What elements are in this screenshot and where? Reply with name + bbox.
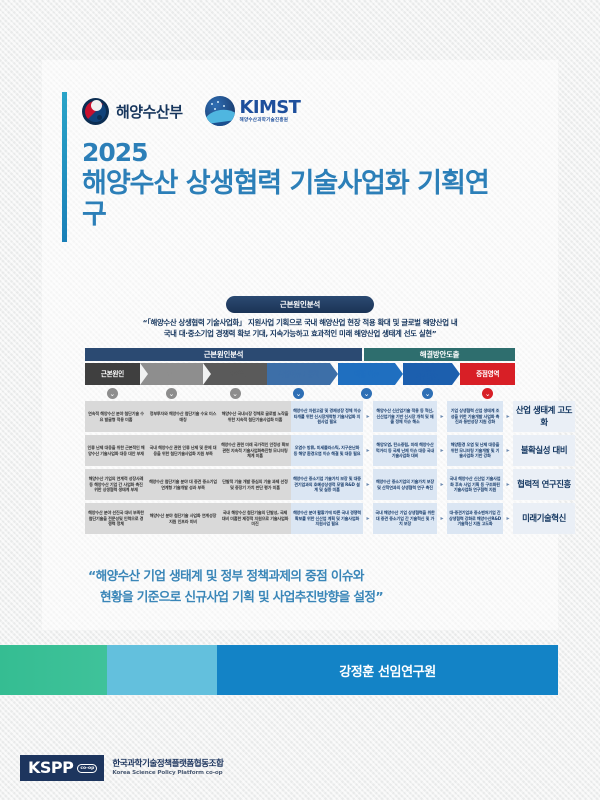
kimst-logo: KIMST 해양수산과학기술진흥원: [205, 96, 301, 126]
diagram-grid: 연속적 해양수산 분야 첨단기술 수요 발굴형 적용 미흡정부투자와 해양수산 …: [85, 401, 515, 534]
quote-line1: “해양수산 기업 생태계 및 정부 정책과제의 중점 이슈와: [88, 568, 364, 583]
taeguk-icon: [82, 98, 109, 125]
cell-secondary-cause: 국내 해양수산 관련 인류 난제 및 문제 대응을 위한 첨단기술사업화 지원 …: [147, 435, 219, 466]
diagram-row: 인류 난제 대응을 위한 근본적인 해양수산 기술사업화 대응 대안 부재국내 …: [85, 435, 515, 466]
cell-root-cause: 인류 난제 대응을 위한 근본적인 해양수산 기술사업화 대응 대안 부재: [85, 435, 147, 466]
arrow-right-icon: ▸: [437, 503, 447, 534]
chevron-down-icon: ⌄: [293, 388, 304, 399]
cell-business-issue: 해양수산 자원고갈 및 경제성장 정체 이슈 타개를 위한 신시장개척형 기술사…: [291, 401, 363, 432]
author-band-blue: 강정훈 선임연구원: [217, 645, 558, 695]
root-cause-diagram: 근본원인분석 “「해양수산 상생협력 기술사업화」 지원사업 기획으로 국내 해…: [85, 296, 515, 537]
kimst-logo-sub: 해양수산과학기술진흥원: [240, 119, 301, 124]
diagram-lead-line1: “「해양수산 상생협력 기술사업화」 지원사업 기획으로 국내 해양산업 현장 …: [89, 317, 511, 328]
summary-quote: “해양수산 기업 생태계 및 정부 정책과제의 중점 이슈와 현황을 기준으로 …: [88, 566, 508, 608]
column-header-business-issue: 사업이슈 / 문제: [267, 363, 331, 385]
chevron-down-icon: ⌄: [166, 388, 177, 399]
title-line1: 해양수산 상생협력 기술사업화: [82, 168, 409, 199]
kimst-logo-name: KIMST: [240, 99, 301, 117]
cell-primary-cause: 국내 해양수산 첨단기술의 단발성, 국제 대비 미흡한 제정적 지원으로 기술…: [219, 503, 291, 534]
arrow-right-icon: ▸: [363, 503, 373, 534]
cell-secondary-cause: 정부투자와 해양수산 첨단기술 수요 미스매칭: [147, 401, 219, 432]
cell-focus-area: 불확실성 대비: [513, 435, 575, 466]
diagram-pill-label: 근본원인분석: [226, 296, 374, 313]
title-accent-bar: [62, 92, 67, 242]
column-header-secondary-cause: 2차원인: [140, 363, 204, 385]
arrow-right-icon: ▸: [503, 503, 513, 534]
author-band-teal: [0, 645, 107, 695]
cell-primary-cause: 해양수산 국내시장 정체로 글로벌 노작을 위한 지속적 첨단기술사업화 미흡: [219, 401, 291, 432]
arrow-right-icon: ▸: [363, 435, 373, 466]
arrow-right-icon: ▸: [437, 401, 447, 432]
column-header-root-cause: 근본원인: [85, 363, 140, 385]
band-solution-derivation: 해결방안도출: [364, 348, 515, 361]
column-header-solve-issue: 해결 이슈: [338, 363, 394, 385]
cell-rnd-solution: 기업 상생협력 산업 생태계 조성을 위한 기술개발 사업화 촉진과 동반성장 …: [447, 401, 503, 432]
cell-rnd-solution: 국내 해양수산 신산업 기술사업화 후속 사업 기획 등 구조화된 기술사업화 …: [447, 469, 503, 500]
kspp-logo: KSPP co-op: [20, 755, 104, 781]
cell-business-issue: 오염수 방류, 미세플라스틱, 지구온난화 등 해양 환경오염 이슈 해결 및 …: [291, 435, 363, 466]
cell-solve-issue: 해양수산 신산업기술 적용 등 혁신, 신산업기술 기반 신시장 개척 및 매출…: [373, 401, 437, 432]
cell-focus-area: 미래기술혁신: [513, 503, 575, 534]
column-header-rnd-solution: R&D 해결방안: [403, 363, 452, 385]
cell-solve-issue: 해양오염, 탄소중립, 미래 해양수산 먹거리 등 국제 난제 이슈 대응 국내…: [373, 435, 437, 466]
ministry-logo: 해양수산부: [82, 98, 183, 125]
cell-secondary-cause: 해양수산 첨단기술 분야 대 중견 중소기업 연계형 기술개발 성과 부족: [147, 469, 219, 500]
footer-org-en: Korea Science Policy Platform co-op: [112, 770, 223, 776]
page-title: 2025 해양수산 상생협력 기술사업화 기획연구: [82, 138, 512, 231]
footer-org-ko: 한국과학기술정책플랫폼협동조합: [112, 760, 223, 770]
footer-org: 한국과학기술정책플랫폼협동조합 Korea Science Policy Pla…: [112, 760, 223, 776]
arrow-right-icon: ▸: [363, 469, 373, 500]
chevron-down-icon: ⌄: [422, 388, 433, 399]
diagram-band-row: 근본원인분석 해결방안도출: [85, 348, 515, 361]
chevron-down-icon: ⌄: [361, 388, 372, 399]
cell-root-cause: 해양수산 분야 선진국 대비 부족한 첨단기술을 전문성및 인력으로 경쟁력 정…: [85, 503, 147, 534]
chevron-down-icon: ⌄: [482, 388, 493, 399]
author-band-sky: [107, 645, 217, 695]
band-root-cause-analysis: 근본원인분석: [85, 348, 362, 361]
cell-rnd-solution: 대·중견기업과 중소벤처기업 간 상생협력 강화로 해양수산R&D 기술혁신 지…: [447, 503, 503, 534]
arrow-right-icon: ▸: [503, 469, 513, 500]
ministry-logo-label: 해양수산부: [116, 101, 183, 122]
kspp-logo-text: KSPP: [28, 760, 73, 776]
arrow-right-icon: ▸: [363, 401, 373, 432]
arrow-right-icon: ▸: [437, 435, 447, 466]
diagram-row: 해양수산 분야 선진국 대비 부족한 첨단기술을 전문성및 인력으로 경쟁력 정…: [85, 503, 515, 534]
kspp-coop-badge: co-op: [77, 764, 97, 773]
kimst-emblem-icon: [205, 96, 235, 126]
diagram-row: 해양수산 기업의 연계적 성장사례 등 해양수산 기업 간 사업화 촉진 위한 …: [85, 469, 515, 500]
cell-rnd-solution: 해양환경 오염 및 난제 대응을 위한 모니터링 기술개발 및 기술사업화 기반…: [447, 435, 503, 466]
footer: KSPP co-op 한국과학기술정책플랫폼협동조합 Korea Science…: [20, 755, 223, 781]
column-header-focus-area: 중점영역: [460, 363, 515, 385]
arrow-right-icon: ▸: [503, 435, 513, 466]
cell-solve-issue: 해양수산 중소기업의 기술가치 보장 및 산학연과의 상생협력 연구 촉진: [373, 469, 437, 500]
cell-root-cause: 연속적 해양수산 분야 첨단기술 수요 발굴형 적용 미흡: [85, 401, 147, 432]
chevron-down-icon: ⌄: [230, 388, 241, 399]
diagram-row: 연속적 해양수산 분야 첨단기술 수요 발굴형 적용 미흡정부투자와 해양수산 …: [85, 401, 515, 432]
diagram-lead-line2: 국내 대·중소기업 경쟁력 확보 기대, 지속가능하고 효과적인 미래 해양산업…: [89, 328, 511, 339]
arrow-right-icon: ▸: [503, 401, 513, 432]
cell-focus-area: 산업 생태계 고도화: [513, 401, 575, 432]
cell-secondary-cause: 해양수산 분야 첨단기술 사업화 연계성장 지원 인프라 미비: [147, 503, 219, 534]
chevron-down-icon: ⌄: [107, 388, 118, 399]
quote-line2: 현황을 기준으로 신규사업 기획 및 사업추진방향을 설정”: [88, 587, 508, 608]
cell-solve-issue: 국내 해양수산 기업 상생협력을 위한 대 중견 중소기업 간 기술혁신 및 가…: [373, 503, 437, 534]
cell-business-issue: 해양수산 중소기업 기술가치 보장 및 대중견기업과의 호혜성상생적 모델 R&…: [291, 469, 363, 500]
cell-root-cause: 해양수산 기업의 연계적 성장사례 등 해양수산 기업 간 사업화 촉진 위한 …: [85, 469, 147, 500]
author-band: 강정훈 선임연구원: [0, 645, 558, 695]
column-header-primary-cause: 1차원인: [203, 363, 267, 385]
cell-primary-cause: 단발적 기술 개발 중심의 기술 과제 선정 및 중장기 가치 판단 평가 미흡: [219, 469, 291, 500]
diagram-column-headers: 근본원인 2차원인 1차원인 사업이슈 / 문제 해결 이슈 R&D 해결방안 …: [85, 363, 515, 385]
arrow-right-icon: ▸: [437, 469, 447, 500]
author-name: 강정훈 선임연구원: [339, 661, 436, 680]
diagram-chevron-row: ⌄ ⌄ ⌄ ⌄ ⌄ ⌄ ⌄: [85, 388, 515, 399]
logo-row: 해양수산부 KIMST 해양수산과학기술진흥원: [82, 96, 300, 126]
title-year: 2025: [82, 138, 512, 168]
cell-business-issue: 해양수산 분야 활황기에 따른 국내 경쟁력 확보를 위한 신산업 계획 및 기…: [291, 503, 363, 534]
diagram-lead-text: “「해양수산 상생협력 기술사업화」 지원사업 기획으로 국내 해양산업 현장 …: [85, 317, 515, 339]
cell-focus-area: 협력적 연구진흥: [513, 469, 575, 500]
cell-primary-cause: 해양수산 관련 미래 국가적인 안정성 확보 관련 지속적 기술사업화촉진형 모…: [219, 435, 291, 466]
